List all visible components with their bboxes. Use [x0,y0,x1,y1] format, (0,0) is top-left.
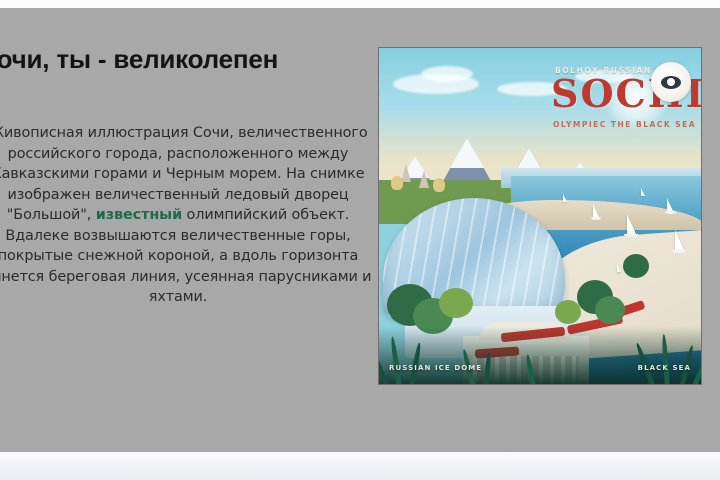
slide-text-column: Сочи, ты - великолепен Живописная иллюст… [0,44,378,308]
tree [595,296,625,324]
page-title: Сочи, ты - великолепен [0,44,378,75]
slide-body-paragraph: Живописная иллюстрация Сочи, величествен… [0,123,378,308]
eye-pupil [667,78,675,86]
sailboat-hull [624,234,638,237]
slide-bottom-margin [0,452,720,480]
eye-emblem-icon [651,62,691,102]
church-spire [419,170,429,188]
sailboat [593,204,599,217]
slide-top-margin [0,0,720,8]
sailboat-hull [591,217,601,220]
poster-caption-left: RUSSIAN ICE DOME [389,364,482,372]
golden-dome-icon [433,178,445,192]
presentation-slide: Сочи, ты - великолепен Живописная иллюст… [0,0,720,480]
poster-caption-right: BLACK SEA [638,364,691,372]
sailboat [563,194,567,202]
sailboat [675,230,684,250]
sailboat [617,264,621,272]
eye-outer-ring [661,76,681,89]
poster-artwork: BOLHOY RUSSIAN CIT SOCHI OLYMPIEC THE BL… [379,48,701,384]
cloud-icon [421,66,473,82]
golden-dome-icon [391,176,403,190]
sochi-poster-image: BOLHOY RUSSIAN CIT SOCHI OLYMPIEC THE BL… [378,47,702,385]
tree [623,254,649,278]
sailboat-hull [672,250,686,253]
sailboat [667,198,673,211]
highlighted-term: известный [96,207,182,223]
sailboat-hull [665,211,676,214]
sailboat [641,188,645,196]
foreground-foliage [379,326,701,384]
poster-subline-text: OLYMPIEC THE BLACK SEA [553,120,696,129]
tree [555,300,581,324]
sailboat [627,214,636,234]
tree [439,288,473,318]
